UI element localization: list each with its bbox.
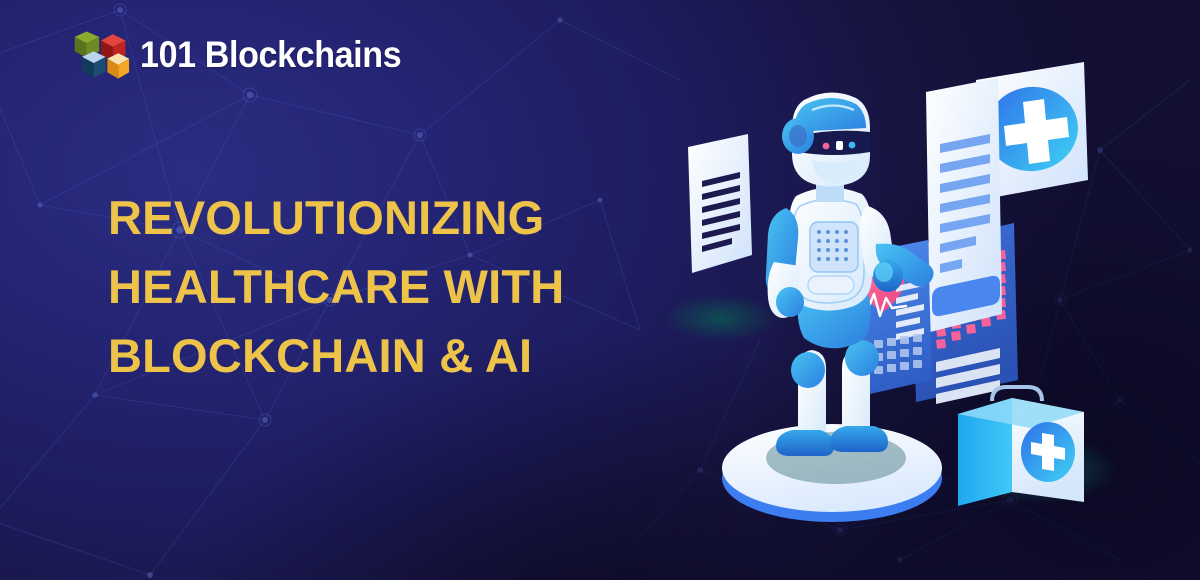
robot-elbow-left [776,287,804,317]
document-card [688,134,752,273]
four-isometric-cubes-icon [72,26,130,84]
robot-knee-left [791,352,825,388]
cube-yellow [107,53,129,78]
kit-cross-icon [1021,422,1075,482]
headline-line-1: REVOLUTIONIZING [108,183,628,252]
kit-handle [992,387,1042,401]
ai-robot [766,92,934,456]
brand-name: 101 Blockchains [140,34,401,76]
robot-chest-panel [808,222,858,294]
headline-line-2: HEALTHCARE WITH [108,252,628,321]
robot-foot-left [776,430,834,456]
shadow-doc [664,294,776,342]
banner-canvas: 101 Blockchains REVOLUTIONIZING HEALTHCA… [0,0,1200,580]
robot-foot-right [830,426,888,452]
hero-illustration [640,40,1180,560]
first-aid-kit [958,387,1084,506]
cube-blue [82,51,106,77]
page-title: REVOLUTIONIZING HEALTHCARE WITH BLOCKCHA… [108,183,628,390]
headline-line-3: BLOCKCHAIN & AI [108,321,628,390]
robot-healthcare-scene [640,40,1180,560]
brand-logo[interactable]: 101 Blockchains [72,26,424,84]
report-card [926,78,1002,332]
